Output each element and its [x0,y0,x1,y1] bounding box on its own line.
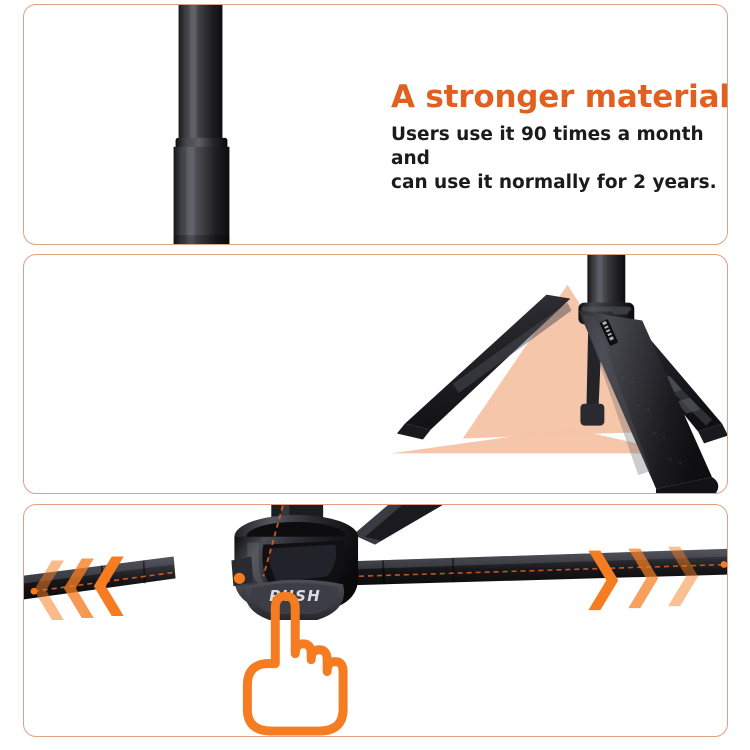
panel-click-to-open: PUSH Click to open The newly upgraded tr… [23,504,728,737]
tripod-legs-illustration [24,255,727,493]
text-block-stronger-material: A stronger material Users use it 90 time… [391,81,728,195]
panel-1-body-line-2: can use it normally for 2 years. [391,171,728,195]
panel-umbrella-frame-structure: Umbrella frame structure The three legs … [23,254,728,494]
panel-stronger-material: A stronger material Users use it 90 time… [23,4,728,245]
svg-text:PUSH: PUSH [269,587,321,605]
push-button-hub-illustration: PUSH [24,505,727,736]
panel-1-headline: A stronger material [391,81,728,114]
panel-1-body-line-1: Users use it 90 times a month and [391,123,728,171]
infographic-stage: A stronger material Users use it 90 time… [0,0,750,750]
